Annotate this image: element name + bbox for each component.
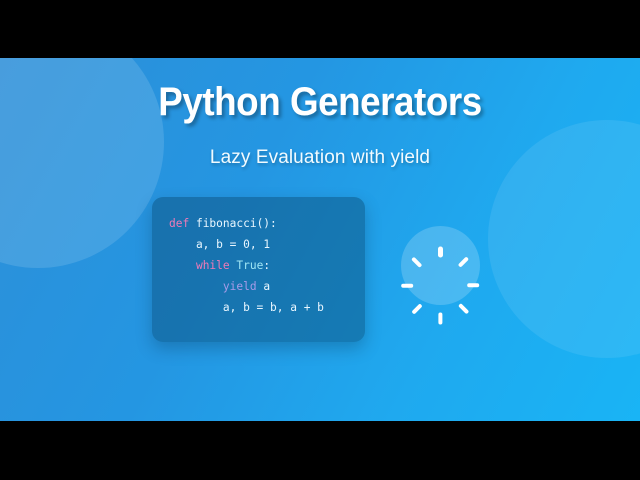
code-content: def fibonacci(): a, b = 0, 1 while True:…: [169, 213, 365, 318]
code-keyword-def: def: [169, 217, 189, 230]
spinner-spoke: [411, 303, 422, 314]
letterbox-bar-bottom: [0, 421, 640, 480]
code-number-one: 1: [263, 238, 270, 251]
letterbox-bar-top: [0, 0, 640, 58]
loading-spinner-icon: [401, 226, 480, 305]
code-block: def fibonacci(): a, b = 0, 1 while True:…: [152, 197, 365, 342]
code-keyword-yield: yield: [223, 280, 257, 293]
spinner-spoke: [402, 283, 414, 287]
spinner-spoke: [458, 256, 469, 267]
page-title: Python Generators: [26, 80, 615, 125]
spinner-spoke: [468, 283, 480, 287]
spinner-spoke: [458, 303, 469, 314]
spinner-spoke: [438, 246, 442, 258]
video-frame: Python Generators Lazy Evaluation with y…: [0, 0, 640, 480]
page-subtitle: Lazy Evaluation with yield: [0, 147, 640, 169]
code-keyword-while: while: [196, 259, 230, 272]
slide-canvas: Python Generators Lazy Evaluation with y…: [0, 58, 640, 421]
spinner-spoke: [411, 256, 422, 267]
code-constant-true: True: [236, 259, 263, 272]
code-number-zero: 0: [243, 238, 250, 251]
spinner-spoke: [438, 313, 442, 325]
